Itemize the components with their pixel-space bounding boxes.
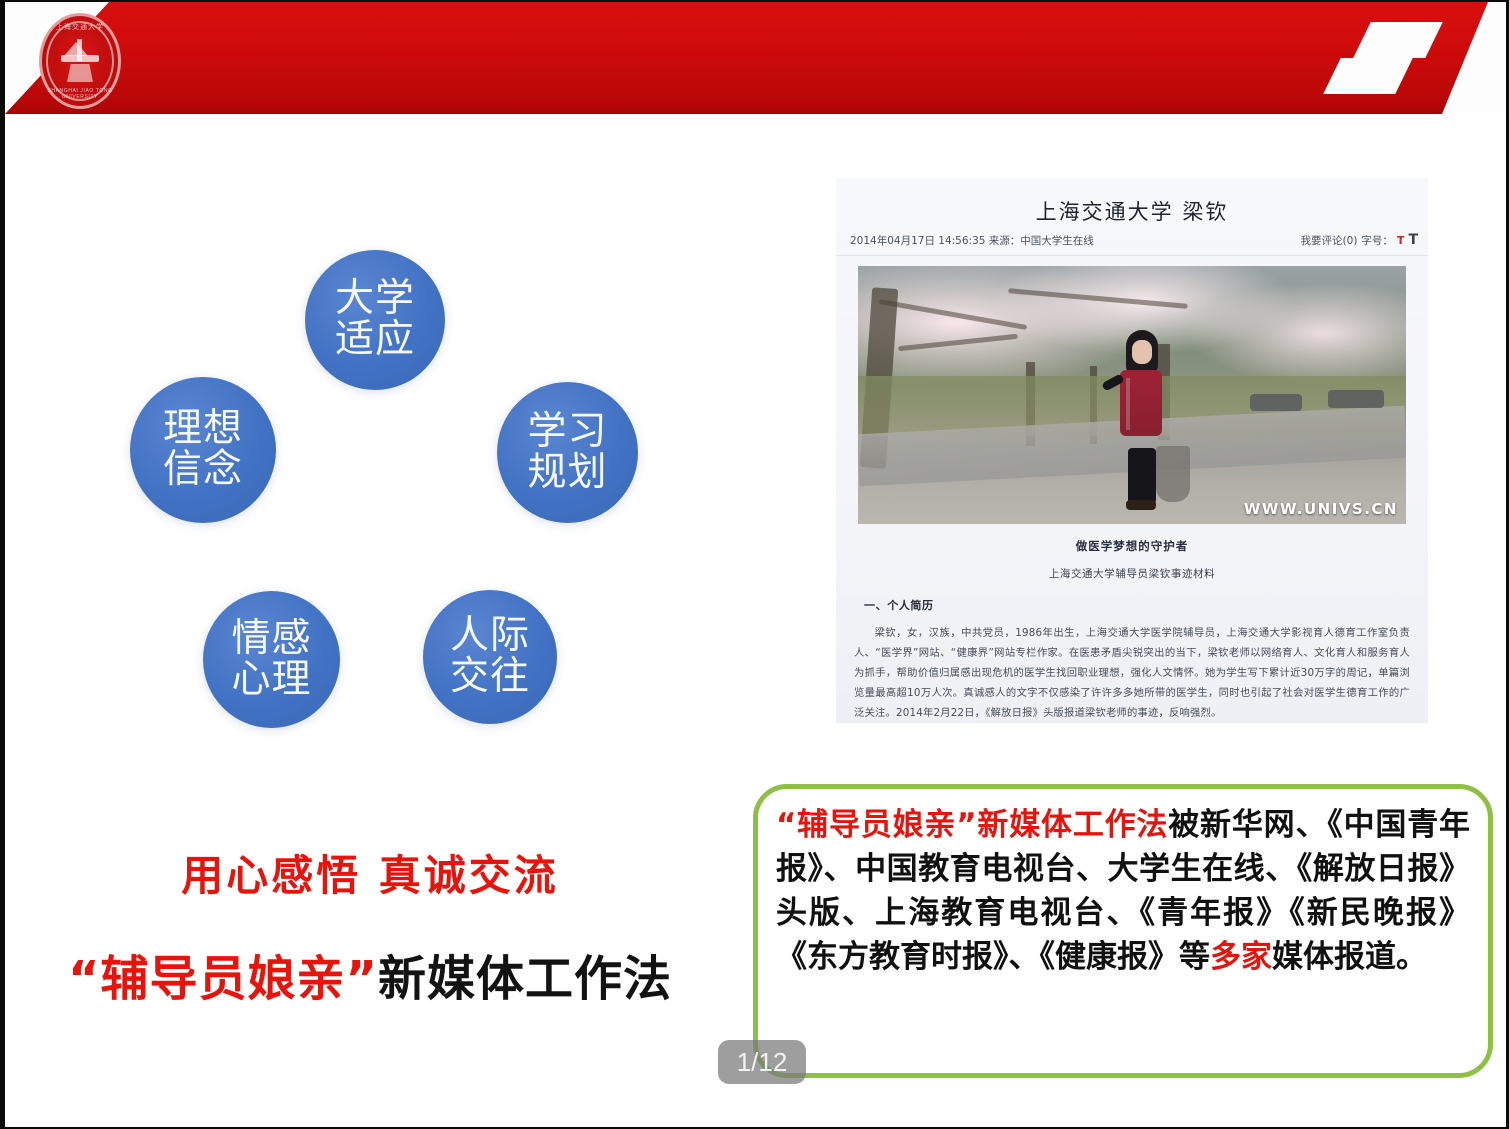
bubble-line-1: 理想	[163, 409, 243, 450]
page-indicator-badge: 1/12	[718, 1040, 806, 1084]
bubble-line-2: 心理	[231, 660, 311, 701]
headline-secondary-black: 新媒体工作法	[378, 951, 672, 1007]
headline-primary: 用心感悟 真诚交流	[5, 842, 735, 903]
seal-sail-shape	[64, 42, 88, 56]
person-scarf	[1120, 370, 1162, 436]
photo-tree-branch	[898, 334, 1018, 352]
bubble-line-1: 情感	[231, 619, 311, 660]
photo-watermark: WWW.UNIVS.CN	[1244, 500, 1398, 518]
article-meta-row: 2014年04月17日 14:56:35 来源：中国大学生在线 我要评论(0) …	[836, 232, 1428, 256]
photo-parked-car	[1250, 394, 1302, 411]
photo-person-portrait	[1108, 330, 1174, 510]
bubble-study-planning: 学习 规划	[497, 382, 638, 523]
article-section-heading: 一、个人简历	[864, 597, 1428, 613]
article-subtitle-secondary: 上海交通大学辅导员梁钦事迹材料	[836, 566, 1428, 581]
photo-tree-branch	[1008, 288, 1188, 309]
seal-base-shape	[67, 64, 93, 82]
callout-segment-black-2: 媒体报道。	[1272, 939, 1427, 975]
presentation-slide: 上海交通大学 SHANGHAI JIAO TONG UNIVERSITY 大学 …	[0, 0, 1509, 1129]
article-date-source: 2014年04月17日 14:56:35 来源：中国大学生在线	[850, 233, 1094, 248]
bubble-line-1: 大学	[335, 279, 415, 320]
media-coverage-callout: “辅导员娘亲”新媒体工作法被新华网、《中国青年报》、中国教育电视台、大学生在线、…	[753, 784, 1493, 1078]
seal-top-text: 上海交通大学	[39, 22, 121, 32]
header-right-wedge	[1442, 2, 1509, 114]
sjtu-seal-logo: 上海交通大学 SHANGHAI JIAO TONG UNIVERSITY	[39, 13, 121, 109]
seal-bottom-text: SHANGHAI JIAO TONG UNIVERSITY	[39, 88, 121, 100]
article-meta-actions: 我要评论(0) 字号： T T	[1301, 232, 1418, 248]
bubble-emotion-psychology: 情感 心理	[203, 591, 340, 728]
bubble-line-2: 适应	[335, 320, 415, 361]
photo-tree-branch	[879, 299, 1028, 330]
slide-headline-block: 用心感悟 真诚交流 “辅导员娘亲”新媒体工作法	[5, 842, 735, 1009]
header-chevron-decoration	[1316, 22, 1436, 96]
bubble-interpersonal: 人际 交往	[423, 590, 557, 724]
bubble-line-1: 人际	[450, 616, 530, 657]
callout-paragraph: “辅导员娘亲”新媒体工作法被新华网、《中国青年报》、中国教育电视台、大学生在线、…	[776, 803, 1470, 979]
fontsize-large-button[interactable]: T	[1408, 232, 1418, 248]
article-comment-link[interactable]: 我要评论(0)	[1301, 233, 1358, 248]
person-handbag	[1156, 446, 1190, 502]
headline-secondary: “辅导员娘亲”新媒体工作法	[5, 939, 735, 1009]
bubble-ideals-and-beliefs: 理想 信念	[130, 377, 276, 523]
person-legs	[1128, 448, 1156, 504]
person-face	[1132, 340, 1152, 364]
topic-bubble-cluster: 大学 适应 理想 信念 学习 规划 情感 心理 人际 交往	[5, 114, 745, 814]
seal-ship-anvil-icon	[59, 39, 101, 85]
seal-anvil-shape	[61, 55, 99, 62]
bubble-line-2: 交往	[450, 657, 530, 698]
chevron-bar-lower	[1323, 58, 1413, 94]
photo-parked-car	[1328, 390, 1384, 408]
person-shoes	[1126, 500, 1156, 510]
callout-segment-red-lead: “辅导员娘亲”新媒体工作法	[776, 807, 1168, 843]
fontsize-small-button[interactable]: T	[1397, 234, 1405, 247]
bubble-line-2: 信念	[163, 450, 243, 491]
chevron-bar-upper	[1353, 22, 1443, 58]
article-photo: WWW.UNIVS.CN	[858, 266, 1406, 524]
callout-segment-red-emphasis: 多家	[1210, 939, 1272, 975]
slide-header-banner: 上海交通大学 SHANGHAI JIAO TONG UNIVERSITY	[5, 2, 1509, 114]
bubble-line-2: 规划	[527, 453, 607, 494]
bubble-university-adaptation: 大学 适应	[305, 250, 445, 390]
headline-secondary-red: “辅导员娘亲”	[68, 951, 378, 1007]
article-title: 上海交通大学 梁钦	[836, 196, 1428, 226]
article-subtitle-primary: 做医学梦想的守护者	[836, 538, 1428, 554]
news-article-panel: 上海交通大学 梁钦 2014年04月17日 14:56:35 来源：中国大学生在…	[836, 178, 1428, 723]
article-body-paragraph: 梁钦，女，汉族，中共党员，1986年出生，上海交通大学医学院辅导员，上海交通大学…	[854, 623, 1410, 723]
bubble-line-1: 学习	[527, 412, 607, 453]
article-fontsize-label: 字号：	[1361, 233, 1393, 248]
